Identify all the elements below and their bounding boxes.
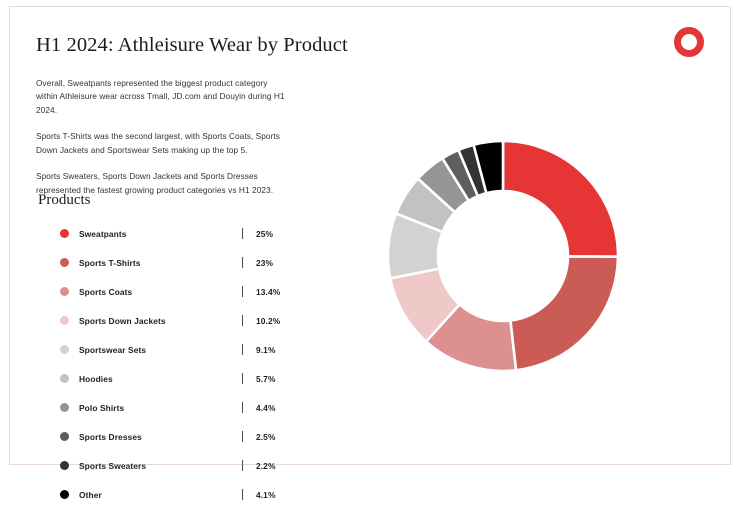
slide-canvas: H1 2024: Athleisure Wear by Product Over…: [0, 0, 741, 476]
legend-item-value: 10.2%: [256, 316, 296, 326]
legend-color-swatch: [60, 258, 69, 267]
left-content-column: H1 2024: Athleisure Wear by Product Over…: [36, 34, 336, 197]
legend-item[interactable]: Polo Shirts4.4%: [36, 397, 296, 418]
summary-paragraph-1: Overall, Sweatpants represented the bigg…: [36, 77, 288, 117]
legend-item[interactable]: Sports Down Jackets10.2%: [36, 310, 296, 331]
legend-item-label: Polo Shirts: [79, 403, 124, 413]
legend-item[interactable]: Sportswear Sets9.1%: [36, 339, 296, 360]
legend-separator: [242, 344, 243, 355]
legend-item-value: 4.4%: [256, 403, 296, 413]
legend-item[interactable]: Sweatpants25%: [36, 223, 296, 244]
legend-item-value: 4.1%: [256, 490, 296, 500]
legend-item-label: Sports Coats: [79, 287, 132, 297]
legend-item[interactable]: Sports Dresses2.5%: [36, 426, 296, 447]
legend-item-value: 13.4%: [256, 287, 296, 297]
legend-color-swatch: [60, 461, 69, 470]
legend-item-label: Hoodies: [79, 374, 113, 384]
legend-item-label: Other: [79, 490, 102, 500]
legend-item[interactable]: Other4.1%: [36, 484, 296, 505]
legend-separator: [242, 489, 243, 500]
legend-color-swatch: [60, 403, 69, 412]
donut-chart: [372, 125, 634, 387]
legend-item-label: Sports T-Shirts: [79, 258, 141, 268]
legend-color-swatch: [60, 287, 69, 296]
legend-color-swatch: [60, 316, 69, 325]
legend-item-value: 2.2%: [256, 461, 296, 471]
legend-item[interactable]: Sports T-Shirts23%: [36, 252, 296, 273]
legend-item-value: 23%: [256, 258, 296, 268]
legend-color-swatch: [60, 432, 69, 441]
chart-legend: Products Sweatpants25%Sports T-Shirts23%…: [36, 192, 296, 505]
summary-paragraph-2: Sports T-Shirts was the second largest, …: [36, 130, 288, 157]
page-title: H1 2024: Athleisure Wear by Product: [36, 34, 336, 57]
legend-separator: [242, 315, 243, 326]
legend-item-label: Sports Dresses: [79, 432, 142, 442]
legend-item-value: 25%: [256, 229, 296, 239]
legend-item[interactable]: Hoodies5.7%: [36, 368, 296, 389]
donut-slice[interactable]: [510, 256, 618, 370]
legend-item-value: 2.5%: [256, 432, 296, 442]
legend-separator: [242, 460, 243, 471]
legend-separator: [242, 431, 243, 442]
legend-color-swatch: [60, 374, 69, 383]
legend-item[interactable]: Sports Coats13.4%: [36, 281, 296, 302]
red-ring-logo: [674, 27, 704, 57]
legend-item-value: 5.7%: [256, 374, 296, 384]
legend-list: Sweatpants25%Sports T-Shirts23%Sports Co…: [36, 223, 296, 505]
legend-separator: [242, 257, 243, 268]
legend-item-label: Sportswear Sets: [79, 345, 146, 355]
legend-separator: [242, 402, 243, 413]
legend-color-swatch: [60, 490, 69, 499]
legend-color-swatch: [60, 229, 69, 238]
legend-separator: [242, 373, 243, 384]
legend-separator: [242, 286, 243, 297]
legend-title: Products: [38, 192, 296, 209]
donut-chart-svg: [372, 125, 634, 387]
legend-item[interactable]: Sports Sweaters2.2%: [36, 455, 296, 476]
legend-item-label: Sports Down Jackets: [79, 316, 166, 326]
legend-separator: [242, 228, 243, 239]
red-ring-icon: [674, 27, 704, 57]
legend-color-swatch: [60, 345, 69, 354]
legend-item-label: Sports Sweaters: [79, 461, 146, 471]
legend-item-label: Sweatpants: [79, 229, 127, 239]
legend-item-value: 9.1%: [256, 345, 296, 355]
donut-slice[interactable]: [503, 141, 618, 257]
summary-text-block: Overall, Sweatpants represented the bigg…: [36, 77, 288, 197]
